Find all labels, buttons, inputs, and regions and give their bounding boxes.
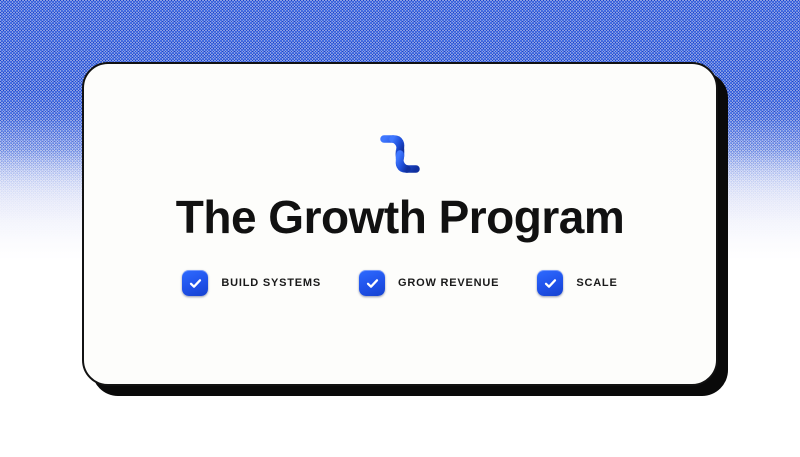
feature-item-scale[interactable]: SCALE	[537, 270, 617, 296]
feature-item-build-systems[interactable]: BUILD SYSTEMS	[182, 270, 321, 296]
feature-list: BUILD SYSTEMS GROW REVENUE SCALE	[182, 270, 617, 296]
page-title: The Growth Program	[176, 194, 624, 240]
checkmark-icon	[543, 276, 558, 291]
feature-label-build-systems: BUILD SYSTEMS	[221, 277, 321, 289]
feature-label-scale: SCALE	[576, 277, 617, 289]
checkbox-build-systems[interactable]	[182, 270, 208, 296]
checkmark-icon	[365, 276, 380, 291]
growth-program-card: The Growth Program BUILD SYSTEMS GROW RE…	[82, 62, 718, 386]
checkbox-grow-revenue[interactable]	[359, 270, 385, 296]
checkmark-icon	[188, 276, 203, 291]
feature-item-grow-revenue[interactable]: GROW REVENUE	[359, 270, 499, 296]
x-brand-logo-icon	[376, 132, 424, 176]
feature-label-grow-revenue: GROW REVENUE	[398, 277, 499, 289]
promo-card-canvas: The Growth Program BUILD SYSTEMS GROW RE…	[0, 0, 800, 457]
checkbox-scale[interactable]	[537, 270, 563, 296]
